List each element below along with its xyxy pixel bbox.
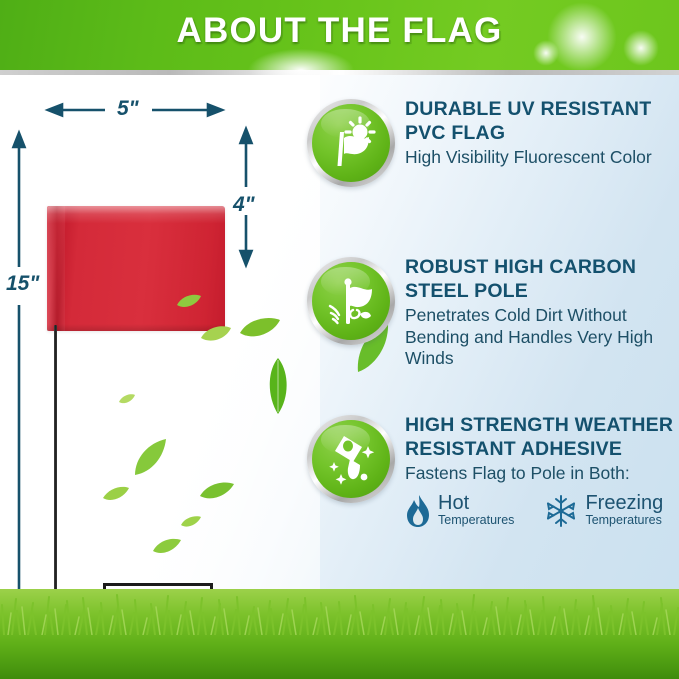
leaf-icon	[239, 315, 281, 341]
leaf-icon	[176, 293, 202, 311]
red-flag	[47, 206, 225, 331]
feature-item-adhesive: HIGH STRENGTH WEATHER RESISTANT ADHESIVE…	[300, 415, 679, 565]
temperature-sublabel: Temperatures	[585, 513, 663, 527]
dimension-height-label: 4"	[233, 193, 255, 217]
leaf-icon	[199, 480, 235, 502]
feature-title-line2: STEEL POLE	[405, 281, 679, 302]
flag-wind-icon	[312, 262, 390, 340]
feature-badge	[307, 415, 395, 503]
temperature-sublabel: Temperatures	[438, 513, 514, 527]
feature-badge	[307, 257, 395, 345]
leaf-icon	[152, 537, 182, 556]
feature-title-line1: DURABLE UV RESISTANT	[405, 99, 679, 120]
temperature-label: Hot	[438, 494, 514, 513]
feature-description: Fastens Flag to Pole in Both:	[405, 463, 679, 485]
content-stage: 5" 4" 15" ACE • S U P P	[0, 75, 679, 679]
leaf-icon	[265, 357, 291, 415]
feature-description: Penetrates Cold Dirt Without Bending and…	[405, 305, 679, 370]
grass-strip	[0, 589, 679, 679]
feature-item-steel-pole: ROBUST HIGH CARBON STEEL POLE Penetrates…	[300, 257, 679, 407]
feature-title-line2: PVC FLAG	[405, 123, 679, 144]
feature-title-line1: HIGH STRENGTH WEATHER	[405, 415, 679, 436]
temperature-label-group: Freezing Temperatures	[585, 494, 663, 527]
dimension-pole-label: 15"	[6, 272, 39, 296]
dimension-width-label: 5"	[117, 97, 139, 121]
flag-bottom-fold	[47, 324, 225, 331]
leaf-icon	[180, 515, 202, 529]
feature-item-uv-resistant: DURABLE UV RESISTANT PVC FLAG High Visib…	[300, 99, 679, 249]
temperature-row: Hot Temperatures	[405, 494, 679, 528]
temperature-hot: Hot Temperatures	[405, 494, 514, 528]
feature-list: DURABLE UV RESISTANT PVC FLAG High Visib…	[300, 97, 679, 565]
temperature-label: Freezing	[585, 494, 663, 513]
feature-title-line1: ROBUST HIGH CARBON	[405, 257, 679, 278]
page-title: ABOUT THE FLAG	[0, 11, 679, 51]
flag-top-fold	[47, 206, 225, 214]
feature-description: High Visibility Fluorescent Color	[405, 147, 679, 169]
leaf-icon	[200, 324, 232, 344]
flame-icon	[405, 494, 431, 528]
leaf-icon	[118, 393, 136, 405]
snowflake-icon	[544, 494, 578, 528]
temperature-label-group: Hot Temperatures	[438, 494, 514, 527]
flag-sun-icon	[312, 104, 390, 182]
adhesive-icon	[312, 420, 390, 498]
leaf-icon	[132, 437, 168, 477]
temperature-freezing: Freezing Temperatures	[544, 494, 663, 528]
leaf-icon	[102, 485, 130, 503]
feature-title-line2: RESISTANT ADHESIVE	[405, 439, 679, 460]
grass-blades	[0, 589, 679, 635]
feature-badge	[307, 99, 395, 187]
